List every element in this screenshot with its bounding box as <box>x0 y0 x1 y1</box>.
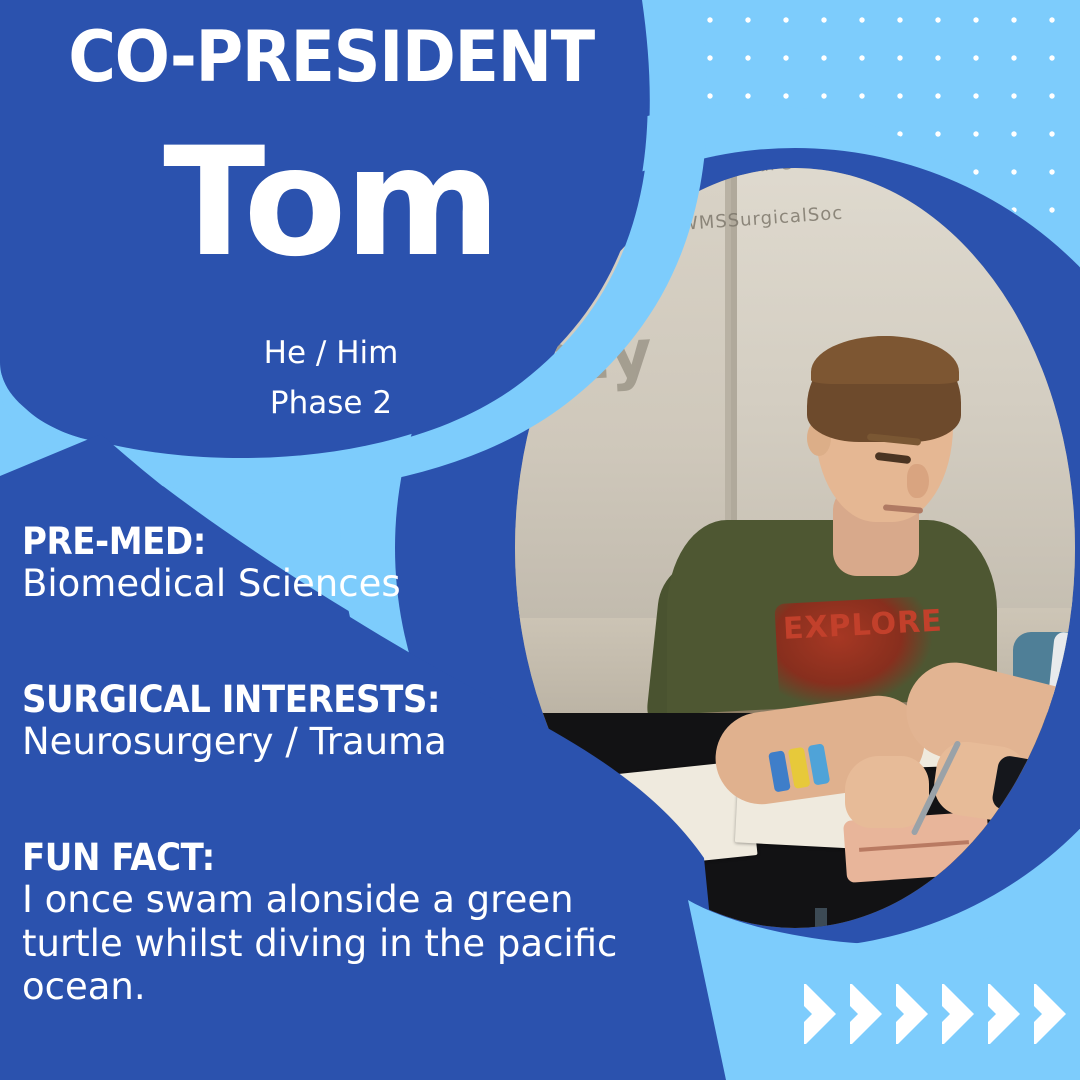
surgical-interests-value: Neurosurgery / Trauma <box>22 720 512 764</box>
fun-fact-label: FUN FACT: <box>22 838 629 878</box>
pronouns-text: He / Him <box>36 335 626 371</box>
chevron-right-icon <box>1030 978 1070 1054</box>
info-block-fun-fact: FUN FACT: I once swam alonside a green t… <box>22 838 682 1009</box>
chevron-right-icon <box>938 978 978 1054</box>
pre-med-label: PRE-MED: <box>22 522 454 562</box>
info-block-surgical-interests: SURGICAL INTERESTS: Neurosurgery / Traum… <box>22 680 512 764</box>
text-layer: CO-PRESIDENT Tom He / Him Phase 2 PRE-ME… <box>0 0 1080 1080</box>
chevron-right-icon <box>846 978 886 1054</box>
member-name: Tom <box>36 128 626 278</box>
chevron-right-icon <box>984 978 1024 1054</box>
phase-text: Phase 2 <box>36 385 626 421</box>
surgical-interests-label: SURGICAL INTERESTS: <box>22 680 473 720</box>
info-block-pre-med: PRE-MED: Biomedical Sciences <box>22 522 492 606</box>
pre-med-value: Biomedical Sciences <box>22 562 492 606</box>
fun-fact-value: I once swam alonside a green turtle whil… <box>22 878 682 1009</box>
role-title: CO-PRESIDENT <box>57 22 606 92</box>
chevron-right-icon <box>892 978 932 1054</box>
profile-card: al iety Warwick Surgical S IG @WMSSurgic… <box>0 0 1080 1080</box>
chevron-arrows-decoration <box>800 978 1070 1054</box>
chevron-right-icon <box>800 978 840 1054</box>
